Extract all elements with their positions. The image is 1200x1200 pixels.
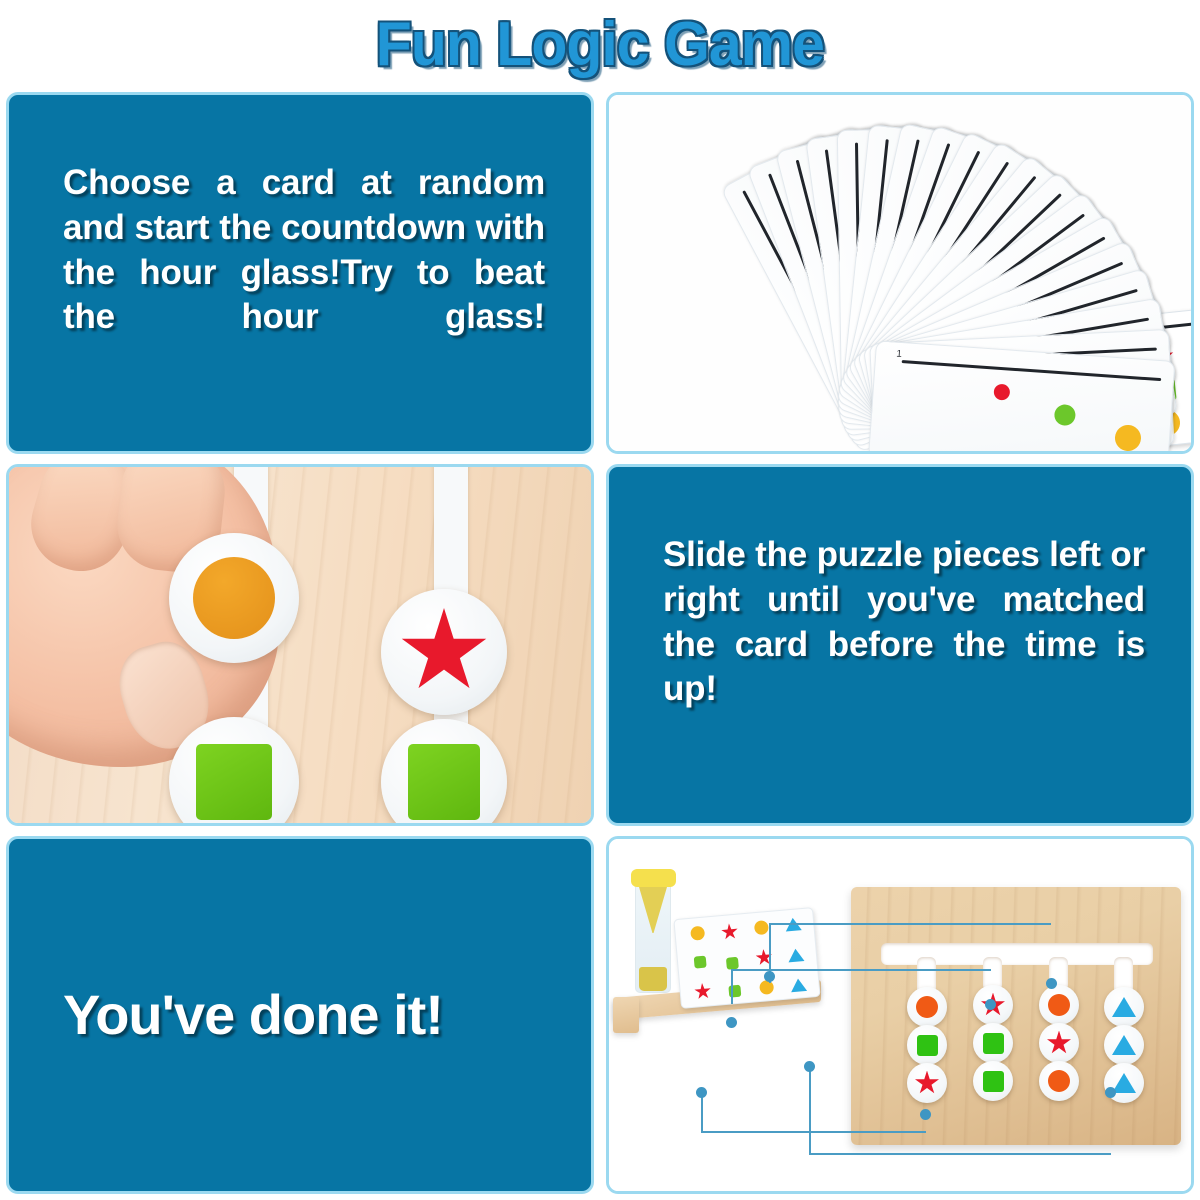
slider-knob-orange-circle[interactable] [169,533,299,663]
infographic-page: Fun Logic Game Choose a card at random a… [0,0,1200,1200]
connector-dot-2b [985,999,996,1010]
shape-square [726,956,739,969]
panel-instruction-2: Slide the puzzle pieces left or right un… [606,464,1194,826]
fan-card-dot [993,384,1010,401]
shape-square [983,1033,1004,1054]
shape-triangle [1112,997,1136,1017]
page-title: Fun Logic Game [376,9,824,80]
panel-photo-board-complete [606,836,1194,1194]
panel-photo-hand-sliders [6,464,594,826]
connector-dot-3a [696,1087,707,1098]
board-knob-c1-r2[interactable] [907,1025,947,1065]
page-title-bar: Fun Logic Game [0,0,1200,88]
instruction-2-text: Slide the puzzle pieces left or right un… [663,533,1145,757]
shape-star [400,608,488,696]
shape-circle [1048,994,1070,1016]
panel-grid: Choose a card at random and start the co… [6,92,1194,1194]
board-knob-c2-r2[interactable] [973,1023,1013,1063]
panel-photo-card-fan: 19181716151413121110987654321 [606,92,1194,454]
shape-square [694,955,707,968]
hand-scene [9,467,591,823]
panel-instruction-1: Choose a card at random and start the co… [6,92,594,454]
card-stand-foot [613,997,639,1033]
shape-circle [193,557,275,639]
shape-square [408,744,480,820]
connector-dot-4a [804,1061,815,1072]
fan-card-dot [1114,424,1142,452]
fan-card[interactable]: 1 [868,340,1176,454]
board-knob-c4-r2[interactable] [1104,1025,1144,1065]
connector-dot-4b [1105,1087,1116,1098]
shape-star [720,923,738,941]
shape-star [1047,1031,1072,1056]
board-knob-c4-r1[interactable] [1104,987,1144,1027]
board-scene [609,839,1191,1191]
shape-star [694,982,712,1000]
instruction-1-text: Choose a card at random and start the co… [63,161,545,385]
board-knob-c3-r1[interactable] [1039,985,1079,1025]
connector-line-2 [731,969,991,1004]
board-knob-c3-r2[interactable] [1039,1023,1079,1063]
panel-instruction-3: You've done it! [6,836,594,1194]
shape-triangle [1112,1035,1136,1055]
fan-card-rule [902,360,1162,381]
hourglass-cap [631,869,676,887]
connector-dot-2a [726,1017,737,1028]
hourglass-sand-bottom [639,967,667,991]
ref-column-1 [685,925,715,1001]
slider-knob-red-star[interactable] [381,589,507,715]
connector-line-4 [809,1067,1111,1155]
connector-dot-1b [1046,978,1057,989]
shape-circle [754,920,769,935]
shape-square [196,744,272,820]
instruction-3-text: You've done it! [63,979,545,1051]
shape-circle [690,926,705,941]
shape-square [917,1035,938,1056]
fan-card-dot [1054,404,1076,426]
fan-card-number: 1 [896,349,902,360]
card-fan-scene: 19181716151413121110987654321 [609,95,1191,451]
